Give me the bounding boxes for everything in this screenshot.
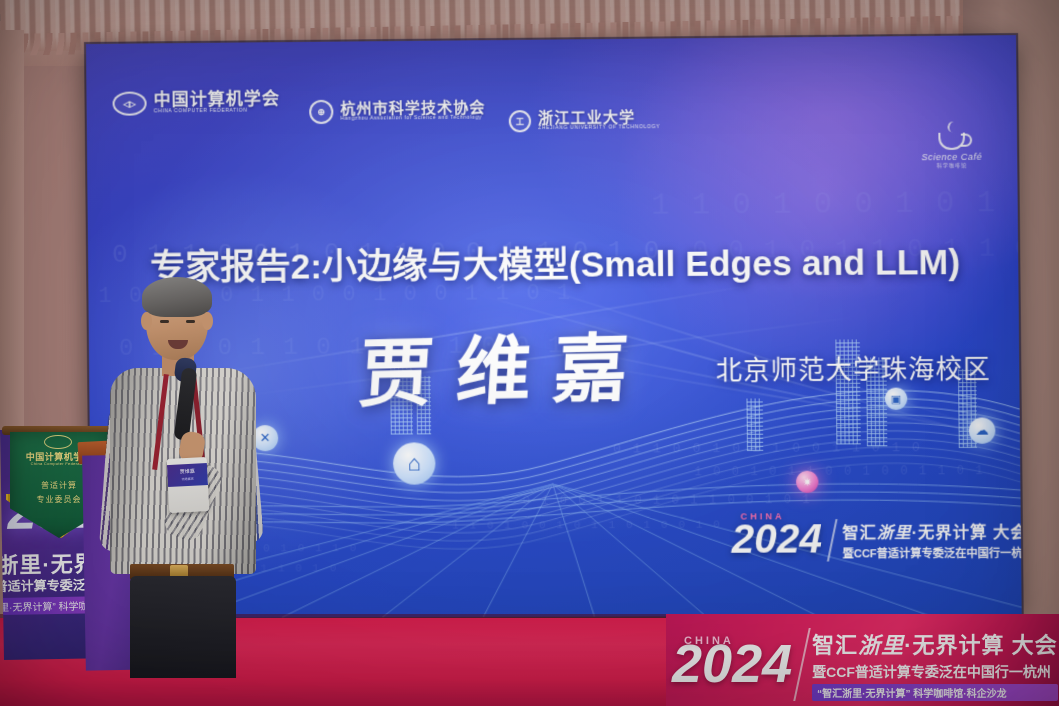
logo-ccf-en: CHINA COMPUTER FEDERATION [154, 109, 280, 115]
cloud-glyph: ☁ [975, 422, 988, 438]
coffee-cup-icon [938, 133, 965, 150]
bottom-banner-sub2-line: “智汇浙里·无界计算” 科学咖啡馆·科企沙龙 [812, 684, 1058, 701]
logo-hzast: ⊕ 杭州市科学技术协会 Hangzhou Association for Sci… [309, 98, 486, 124]
home-glyph: ⌂ [407, 450, 421, 476]
logo-zjut-en: ZHEJIANG UNIVERSITY OF TECHNOLOGY [538, 125, 660, 131]
bottom-banner-main-d: 大会 [1012, 633, 1058, 658]
bottom-banner-lockup: CHINA 2024 智汇浙里·无界计算 大会 暨CCF普适计算专委泛在中国行一… [672, 628, 1058, 701]
lockup-divider [827, 519, 838, 561]
logo-ccf: ◁▷ 中国计算机学会 CHINA COMPUTER FEDERATION [112, 90, 280, 116]
speaker-trousers [130, 576, 236, 678]
speaker-person: 贾维嘉 特邀嘉宾 [108, 282, 258, 678]
digital-tower [746, 398, 763, 450]
lockup-main-d: 大会 [993, 524, 1022, 541]
cafe-logo-cn: 科学咖啡馆 [937, 162, 968, 169]
network-node-icon: ✷ [796, 471, 819, 493]
lockup-text: 智汇浙里·无界计算 大会 暨CCF普适计算专委泛在中国行一杭州 [842, 518, 1021, 561]
slide-title: 专家报告2:小边缘与大模型(Small Edges and LLM) [150, 233, 1022, 290]
slide-speaker-name: 贾维嘉 [357, 308, 655, 422]
lockup-main-b: 浙里 [877, 523, 912, 542]
speaker-right-ear [202, 312, 213, 330]
binary-text: 1 1 0 1 0 0 1 0 1 1 0 1 0 0 1 0 [651, 185, 1022, 224]
home-icon: ⌂ [393, 442, 436, 484]
bottom-banner-main-b: 浙里 [858, 633, 904, 659]
lockup-year: CHINA 2024 [731, 523, 822, 559]
bottom-banner-year: CHINA 2024 [672, 641, 792, 689]
node-glyph: ✷ [803, 475, 813, 488]
pennant-seal-icon [44, 435, 72, 449]
logo-zjut: 工 浙江工业大学 ZHEJIANG UNIVERSITY OF TECHNOLO… [509, 109, 660, 132]
cafe-logo-word: Science Café [921, 152, 982, 163]
bottom-banner-main-line: 智汇浙里·无界计算 大会 [812, 628, 1058, 660]
lockup-main-line: 智汇浙里·无界计算 大会 [842, 518, 1021, 543]
lockup-year-text: 2024 [731, 518, 822, 563]
slide-affiliation: 北京师范大学珠海校区 [716, 349, 991, 388]
conference-stage-photo: 0 1 1 0 0 1 0 1 1 0 0 1 1 0 1 0 1 0 0 1 … [0, 0, 1059, 706]
logo-hzast-text: 杭州市科学技术协会 Hangzhou Association for Scien… [340, 100, 485, 122]
lockup-china: CHINA [740, 514, 784, 522]
lockup-main-a: 智汇 [842, 525, 877, 542]
logo-hzast-en: Hangzhou Association for Science and Tec… [340, 116, 485, 122]
hzast-logo-icon: ⊕ [309, 100, 333, 124]
bottom-banner-sub-line: 暨CCF普适计算专委泛在中国行一杭州 [812, 662, 1058, 682]
speaker-hair [142, 277, 212, 317]
bottom-banner-main-a: 智汇 [812, 633, 858, 658]
lockup-main-c: 无界计算 [918, 525, 988, 542]
bottom-banner-china: CHINA [684, 637, 734, 647]
bottom-banner-text: 智汇浙里·无界计算 大会 暨CCF普适计算专委泛在中国行一杭州 “智汇浙里·无界… [812, 628, 1058, 701]
drone-glyph: ✕ [260, 430, 271, 446]
bottom-banner-main-dot: · [904, 633, 912, 658]
science-cafe-logo: Science Café 科学咖啡馆 [909, 124, 995, 177]
zjut-logo-icon: 工 [509, 110, 531, 132]
screen-conference-lockup: CHINA 2024 智汇浙里·无界计算 大会 暨CCF普适计算专委泛在中国行一… [731, 518, 1021, 561]
bottom-conference-banner: CHINA 2024 智汇浙里·无界计算 大会 暨CCF普适计算专委泛在中国行一… [666, 614, 1059, 706]
speaker-left-ear [141, 312, 152, 330]
bottom-banner-divider [793, 628, 811, 701]
chip-icon: ▣ [885, 388, 908, 410]
logo-zjut-text: 浙江工业大学 ZHEJIANG UNIVERSITY OF TECHNOLOGY [538, 109, 660, 131]
lockup-sub-line: 暨CCF普适计算专委泛在中国行一杭州 [842, 545, 1021, 562]
screen-logo-row: ◁▷ 中国计算机学会 CHINA COMPUTER FEDERATION ⊕ 杭… [86, 35, 1017, 144]
speaker-left-eye [160, 320, 169, 323]
logo-ccf-text: 中国计算机学会 CHINA COMPUTER FEDERATION [154, 91, 281, 115]
ccf-logo-icon: ◁▷ [112, 91, 146, 115]
speaker-right-eye [186, 320, 195, 323]
chip-glyph: ▣ [891, 392, 902, 405]
logo-ccf-cn: 中国计算机学会 [154, 91, 281, 110]
cloud-icon: ☁ [969, 417, 996, 443]
speaker-badge: 贾维嘉 特邀嘉宾 [167, 457, 210, 513]
bottom-banner-main-c: 无界计算 [913, 633, 1005, 658]
